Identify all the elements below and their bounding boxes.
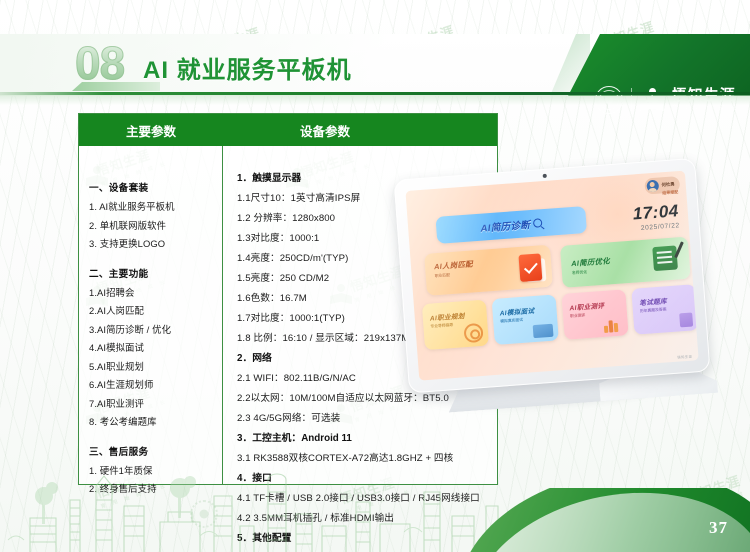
list-item: 1. AI就业服务平板机 [89, 199, 222, 213]
clock-widget: 17:04 2025/07/22 [632, 201, 680, 232]
spec-line: 3.1 RK3588双核CORTEX-A72高达1.8GHZ + 四核 [237, 450, 497, 464]
slide-page: 悟知生涯 育 用 始 终 成 长 悟知生涯 育 用 始 终 成 长 悟知生涯 育… [0, 0, 750, 552]
group-host: 3．工控主机：Android 11 3.1 RK3588双核CORTEX-A72… [237, 430, 497, 464]
list-item: 8. 考公考编题库 [89, 414, 222, 428]
footer-wave [450, 488, 750, 552]
checkmark-icon [518, 253, 542, 282]
column-header-main-params: 主要参数 [79, 114, 223, 146]
list-item: 5.AI职业规划 [89, 359, 222, 373]
tile-ai-career-assessment[interactable]: AI职业测评 职业测评 [561, 289, 628, 340]
list-item: 4.AI模拟面试 [89, 340, 222, 354]
main-params-column: 一、设备套装 1. AI就业服务平板机 2. 单机联网版软件 3. 支持更换LO… [79, 146, 223, 485]
tablet-screen: 何社勇 结果报配 17:04 2025/07/22 AI简历诊断 点击进入 AI… [405, 171, 698, 381]
header-rule-shadow [0, 95, 750, 105]
user-name: 何社勇 [661, 181, 675, 188]
clock-time: 17:04 [632, 201, 679, 224]
front-camera-icon [543, 174, 547, 178]
search-icon [533, 218, 543, 228]
monitor-icon [533, 324, 554, 338]
list-item: 2. 单机联网版软件 [89, 218, 222, 232]
tablet-body: 何社勇 结果报配 17:04 2025/07/22 AI简历诊断 点击进入 AI… [394, 158, 711, 394]
tile-ai-career-planning[interactable]: AI职业规划 专业导师指导 [422, 300, 489, 351]
tile-ai-mock-interview[interactable]: AI模拟面试 模拟真实面试 [492, 294, 559, 345]
column-header-device-params: 设备参数 [223, 114, 497, 146]
bar-chart-icon [602, 314, 623, 333]
section-main-functions: 二、主要功能 1.AI招聘会 2.AI人岗匹配 3.AI简历诊断 / 优化 4.… [89, 266, 222, 429]
list-item: 7.AI职业测评 [89, 396, 222, 410]
tablet-device: 何社勇 结果报配 17:04 2025/07/22 AI简历诊断 点击进入 AI… [388, 156, 735, 420]
screen-footer-text: 悟知生涯 [677, 354, 692, 360]
book-icon [679, 312, 693, 327]
notepad-icon [652, 245, 678, 271]
user-subtitle: 结果报配 [662, 189, 678, 196]
avatar [646, 180, 659, 193]
list-item: 3. 支持更换LOGO [89, 236, 222, 250]
list-item: 3.AI简历诊断 / 优化 [89, 322, 222, 336]
section-equipment-set: 一、设备套装 1. AI就业服务平板机 2. 单机联网版软件 3. 支持更换LO… [89, 180, 222, 250]
list-item: 2.AI人岗匹配 [89, 303, 222, 317]
section-heading: 三、售后服务 [89, 444, 222, 458]
spec-table-header-row: 主要参数 设备参数 [79, 114, 497, 146]
section-heading: 一、设备套装 [89, 180, 222, 194]
group-heading: 3．工控主机：Android 11 [237, 430, 497, 444]
list-item: 1.AI招聘会 [89, 285, 222, 299]
list-item: 6.AI生涯规划师 [89, 377, 222, 391]
tile-ai-job-matching[interactable]: AI人岗匹配 职业匹配 [424, 245, 553, 296]
target-icon [463, 323, 483, 343]
section-heading: 二、主要功能 [89, 266, 222, 280]
page-title: AI 就业服务平板机 [143, 50, 352, 85]
section-number: 08 [75, 40, 124, 86]
page-number: 37 [709, 518, 728, 538]
tile-title: AI简历诊断 [480, 217, 531, 235]
brand-tagline: 育 用 始 终 成 长 [672, 106, 738, 112]
tile-written-exam-bank[interactable]: 笔试题库 历年真题及答案 [631, 284, 698, 335]
